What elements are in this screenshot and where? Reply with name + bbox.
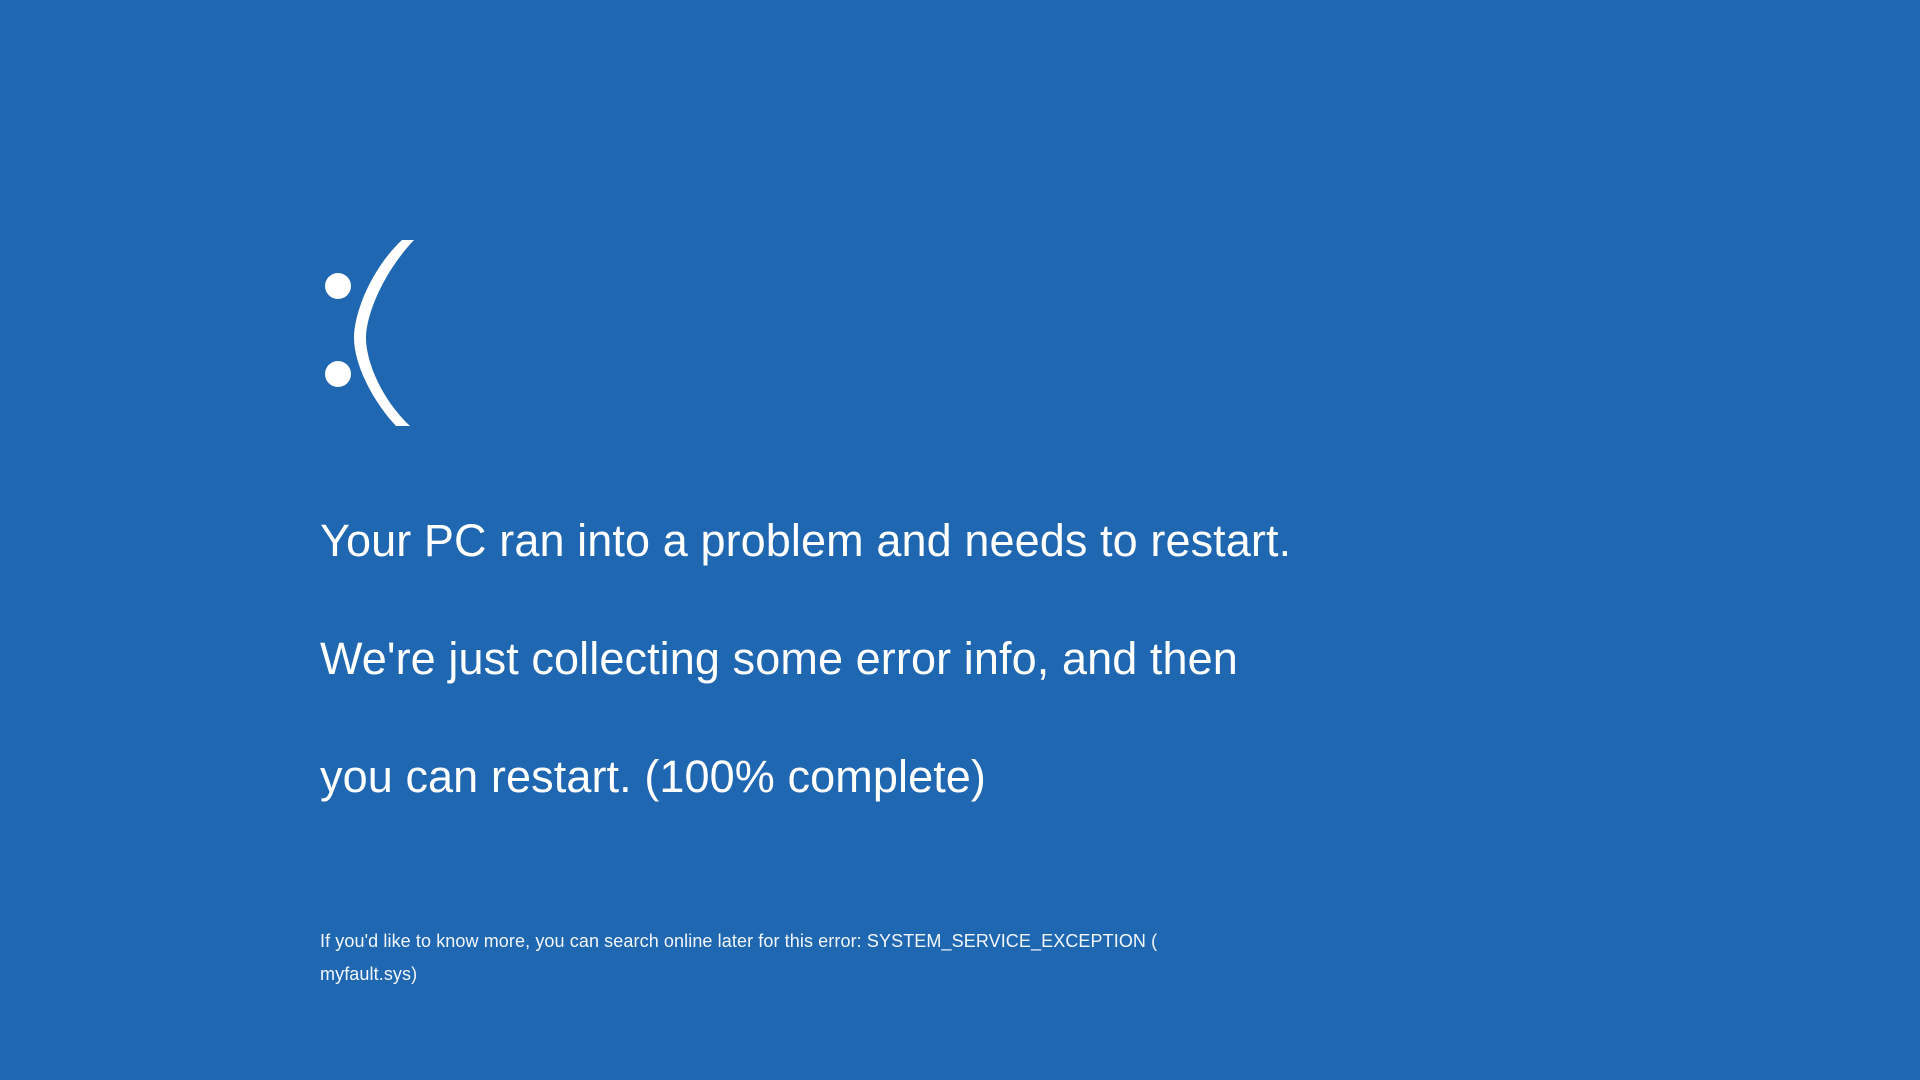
sad-face-mouth-icon: [354, 240, 414, 426]
headline-line-2: We're just collecting some error info, a…: [320, 629, 1500, 688]
headline-line-3: you can restart. (100% complete): [320, 747, 1500, 806]
bsod-screen: Your PC ran into a problem and needs to …: [0, 0, 1920, 1080]
sad-face-upper-eye-icon: [325, 273, 351, 299]
sad-face-emoticon: [320, 238, 450, 428]
page-title: Your PC ran into a problem and needs to …: [320, 452, 1500, 865]
error-detail-block: If you'd like to know more, you can sear…: [320, 925, 1160, 991]
headline-line-1: Your PC ran into a problem and needs to …: [320, 511, 1500, 570]
sad-face-lower-eye-icon: [325, 361, 351, 387]
error-detail-line-1: If you'd like to know more, you can sear…: [320, 925, 1160, 958]
error-detail-line-2: myfault.sys): [320, 958, 1160, 991]
sad-face-svg: [320, 238, 450, 428]
error-detail-text: If you'd like to know more, you can sear…: [320, 925, 1160, 991]
bsod-content-block: Your PC ran into a problem and needs to …: [320, 238, 1500, 991]
